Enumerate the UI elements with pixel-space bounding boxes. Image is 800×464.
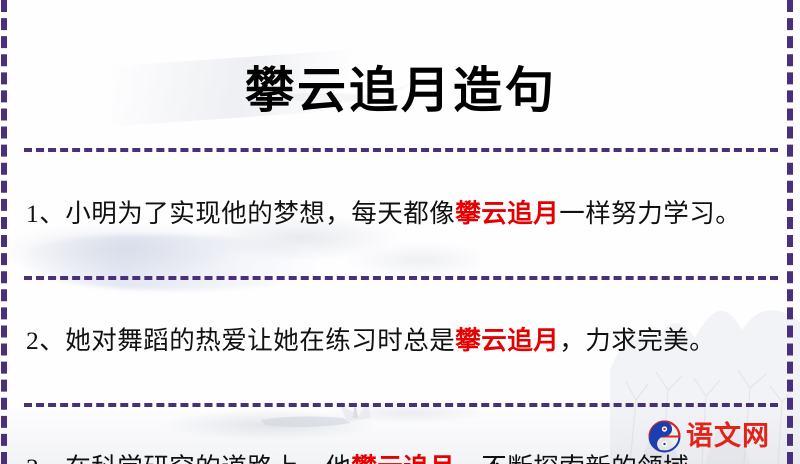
sentence-2-number: 2、 [26,326,65,355]
sentence-3-text-after: ，不断探索新的领域。 [455,453,715,464]
divider-below-sentence-1 [24,276,778,280]
sentence-3-number: 3、 [26,453,65,464]
sentence-item-2: 2、她对舞蹈的热爱让她在练习时总是攀云追月，力求完美。 [24,305,778,377]
page-content: 攀云追月造句 1、小明为了实现他的梦想，每天都像攀云追月一样努力学习。 2、她对… [0,33,800,464]
sentence-1-number: 1、 [26,199,65,228]
sentence-3-idiom: 攀云追月 [351,453,455,464]
site-logo-text: 语文网 [686,423,770,450]
divider-below-sentence-2 [24,403,778,407]
sentence-item-1: 1、小明为了实现他的梦想，每天都像攀云追月一样努力学习。 [24,177,778,250]
sentence-1-text-after: 一样努力学习。 [559,199,741,228]
sentence-2-idiom: 攀云追月 [455,326,559,355]
page-border-right [787,0,793,464]
divider-below-title [24,148,778,152]
sentence-1-text-before: 小明为了实现他的梦想，每天都像 [65,199,455,228]
sentence-2-text-before: 她对舞蹈的热爱让她在练习时总是 [65,326,455,355]
site-logo[interactable]: 语文网 [648,420,770,453]
page-root: 攀云追月造句 1、小明为了实现他的梦想，每天都像攀云追月一样努力学习。 2、她对… [0,0,800,464]
sentence-2-text-after: ，力求完美。 [559,326,715,355]
page-border-left [1,0,7,464]
sentence-3-text-before: 在科学研究的道路上，他 [65,453,351,464]
page-title: 攀云追月造句 [24,33,778,115]
sentence-1-idiom: 攀云追月 [455,199,559,228]
yinyang-fish-logo-icon [648,420,681,453]
